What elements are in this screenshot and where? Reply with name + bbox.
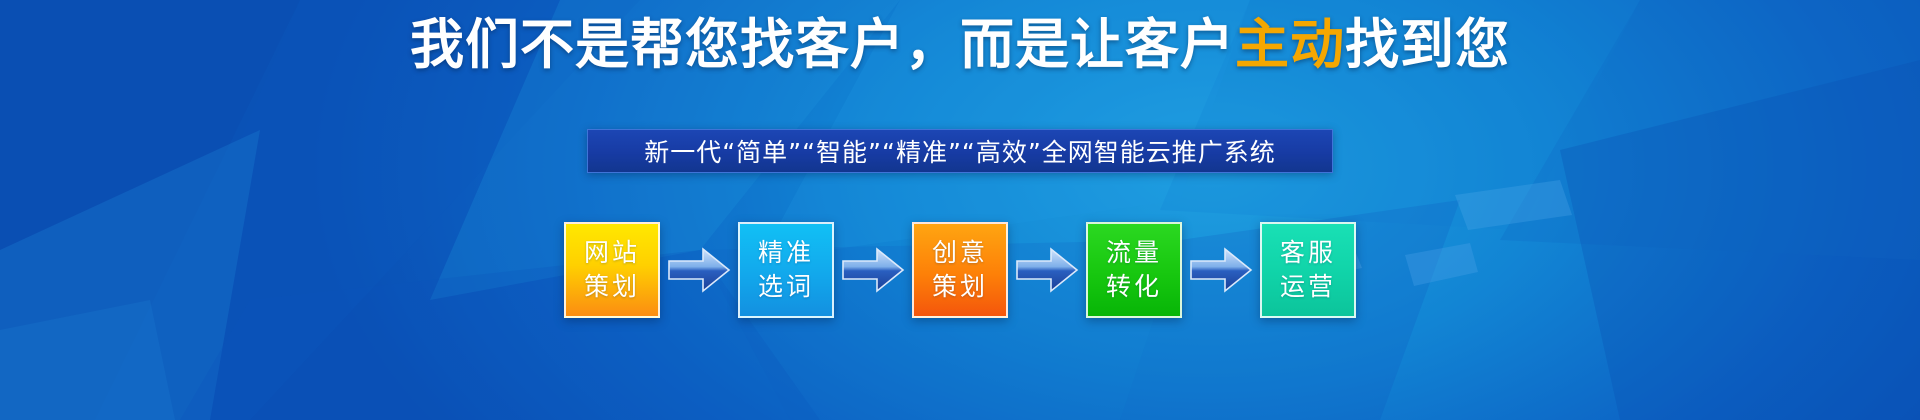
flow-step-label-line2: 策划	[584, 270, 640, 305]
right-arrow-icon	[834, 224, 912, 316]
flow-step-label-line1: 精准	[758, 236, 814, 271]
flow-step-creative-planning[interactable]: 创意 策划	[912, 222, 1008, 318]
promo-banner: 我们不是帮您找客户，而是让客户主动找到您 新一代“简单”“智能”“精准”“高效”…	[0, 0, 1920, 420]
process-flow: 网站 策划 精准 选词	[564, 222, 1356, 318]
headline-text-before: 我们不是帮您找客户，而是让客户	[410, 18, 1235, 72]
right-arrow-icon	[1182, 224, 1260, 316]
headline-text-after: 找到您	[1345, 18, 1510, 72]
right-arrow-icon	[660, 224, 738, 316]
flow-step-label-line1: 网站	[584, 236, 640, 271]
subtitle-text: 新一代“简单”“智能”“精准”“高效”全网智能云推广系统	[644, 133, 1276, 169]
flow-step-label-line2: 运营	[1280, 270, 1336, 305]
subtitle-bar: 新一代“简单”“智能”“精准”“高效”全网智能云推广系统	[587, 129, 1333, 173]
flow-step-traffic-conversion[interactable]: 流量 转化	[1086, 222, 1182, 318]
flow-step-label-line1: 流量	[1106, 236, 1162, 271]
headline-accent-text: 主动	[1235, 18, 1345, 72]
right-arrow-icon	[1008, 224, 1086, 316]
flow-step-label-line1: 创意	[932, 236, 988, 271]
headline: 我们不是帮您找客户，而是让客户主动找到您	[0, 18, 1920, 72]
flow-step-customer-service[interactable]: 客服 运营	[1260, 222, 1356, 318]
flow-step-label-line2: 选词	[758, 270, 814, 305]
flow-step-precise-keywords[interactable]: 精准 选词	[738, 222, 834, 318]
flow-step-website-planning[interactable]: 网站 策划	[564, 222, 660, 318]
flow-step-label-line2: 策划	[932, 270, 988, 305]
flow-step-label-line1: 客服	[1280, 236, 1336, 271]
flow-step-label-line2: 转化	[1106, 270, 1162, 305]
